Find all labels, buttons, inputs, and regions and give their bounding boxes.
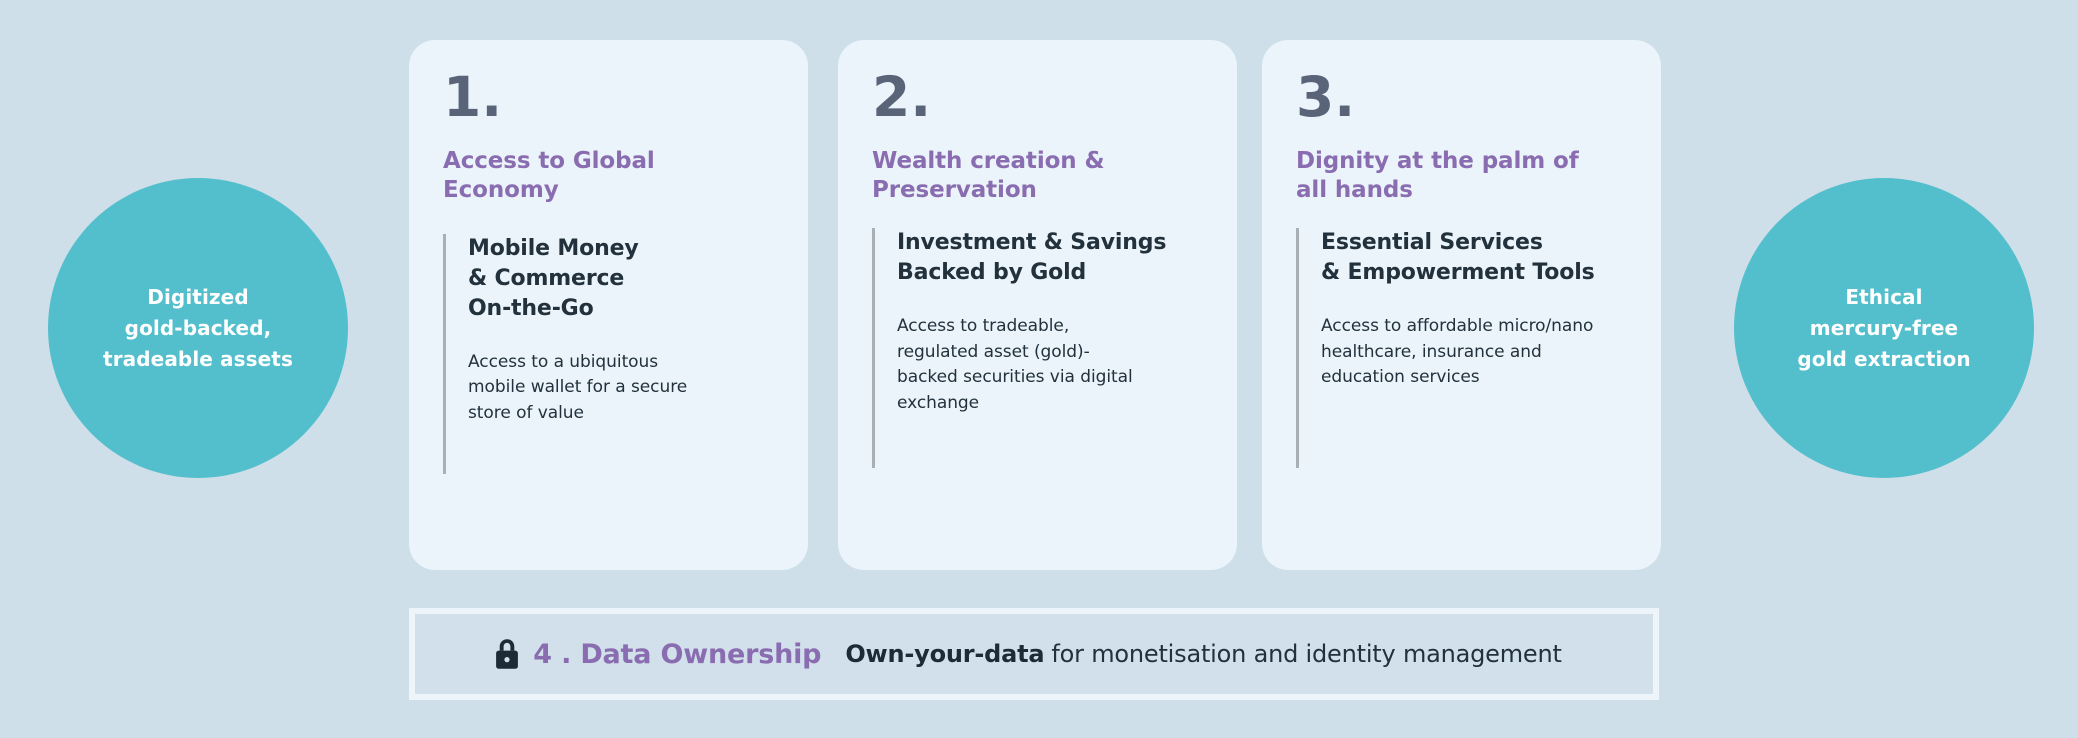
card-block-title: Investment & Savings Backed by Gold xyxy=(897,228,1203,288)
card-heading: Access to Global Economy xyxy=(443,147,774,206)
card-number: 3. xyxy=(1296,70,1627,125)
circle-ethical-extraction: Ethical mercury-free gold extraction xyxy=(1734,178,2034,478)
circle-left-label: Digitized gold-backed, tradeable assets xyxy=(103,282,293,375)
card-wealth-creation-preservation: 2. Wealth creation & Preservation Invest… xyxy=(838,40,1237,570)
card-number: 1. xyxy=(443,70,774,125)
card-accent-block: Essential Services & Empowerment Tools A… xyxy=(1296,228,1627,468)
banner-content: 4 . Data Ownership Own-your-data for mon… xyxy=(494,638,1561,670)
card-heading: Dignity at the palm of all hands xyxy=(1296,147,1627,206)
circle-digitized-assets: Digitized gold-backed, tradeable assets xyxy=(48,178,348,478)
card-block-body: Access to affordable micro/nano healthca… xyxy=(1321,314,1627,391)
card-block-body: Access to tradeable, regulated asset (go… xyxy=(897,314,1203,417)
card-block-body: Access to a ubiquitous mobile wallet for… xyxy=(468,350,774,427)
banner-number-label: 4 . Data Ownership xyxy=(533,639,821,670)
card-dignity-at-palm-of-all-hands: 3. Dignity at the palm of all hands Esse… xyxy=(1262,40,1661,570)
card-block-title: Mobile Money & Commerce On-the-Go xyxy=(468,234,774,324)
card-number: 2. xyxy=(872,70,1203,125)
card-access-to-global-economy: 1. Access to Global Economy Mobile Money… xyxy=(409,40,808,570)
card-accent-block: Mobile Money & Commerce On-the-Go Access… xyxy=(443,234,774,474)
data-ownership-banner: 4 . Data Ownership Own-your-data for mon… xyxy=(409,608,1659,700)
card-block-title: Essential Services & Empowerment Tools xyxy=(1321,228,1627,288)
lock-icon xyxy=(494,638,520,670)
card-accent-block: Investment & Savings Backed by Gold Acce… xyxy=(872,228,1203,468)
card-heading: Wealth creation & Preservation xyxy=(872,147,1203,206)
banner-strong-text: Own-your-data xyxy=(845,640,1044,668)
banner-rest-text: for monetisation and identity management xyxy=(1051,640,1561,668)
circle-right-label: Ethical mercury-free gold extraction xyxy=(1797,282,1970,375)
